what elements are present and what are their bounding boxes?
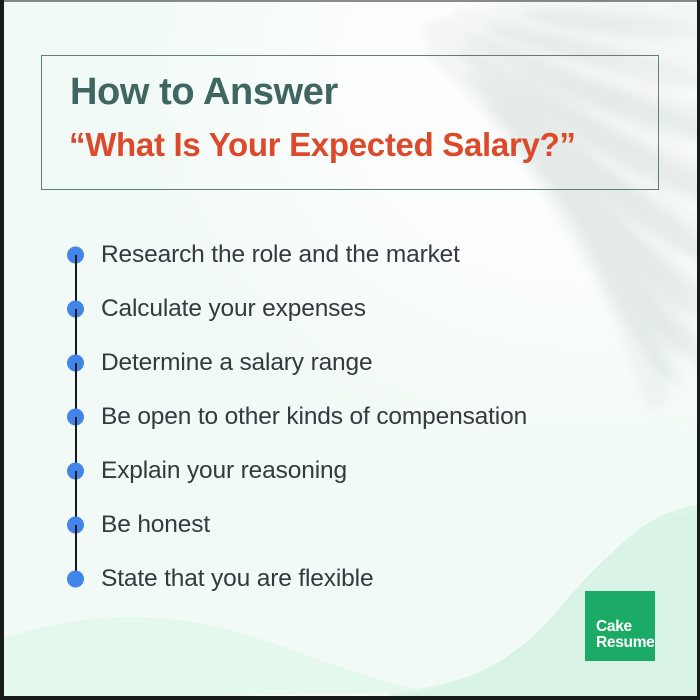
- infographic-canvas: How to Answer “What Is Your Expected Sal…: [0, 0, 700, 700]
- step-marker: [63, 336, 95, 390]
- list-item: Explain your reasoning: [63, 444, 663, 498]
- cakeresume-logo: Cake Resume: [585, 591, 655, 661]
- step-marker: [63, 282, 95, 336]
- page-subtitle: “What Is Your Expected Salary?”: [69, 128, 576, 163]
- step-label: Be honest: [101, 512, 210, 539]
- step-label: Determine a salary range: [101, 350, 372, 377]
- step-label: Explain your reasoning: [101, 458, 347, 485]
- logo-line-2: Resume: [596, 635, 655, 652]
- step-label: Calculate your expenses: [101, 296, 366, 323]
- logo-line-1: Cake: [596, 619, 632, 636]
- step-label: Research the role and the market: [101, 242, 460, 269]
- title-box: How to Answer “What Is Your Expected Sal…: [41, 55, 659, 190]
- bullet-dot-icon: [67, 571, 84, 588]
- list-item: Research the role and the market: [63, 228, 663, 282]
- list-item: Be honest: [63, 498, 663, 552]
- steps-list: Research the role and the market Calcula…: [63, 228, 663, 606]
- step-marker: [63, 552, 95, 606]
- step-label: Be open to other kinds of compensation: [101, 404, 527, 431]
- list-item: Calculate your expenses: [63, 282, 663, 336]
- step-marker: [63, 228, 95, 282]
- list-item: State that you are flexible: [63, 552, 663, 606]
- step-label: State that you are flexible: [101, 566, 373, 593]
- page-title: How to Answer: [70, 73, 338, 113]
- step-marker: [63, 498, 95, 552]
- list-item: Determine a salary range: [63, 336, 663, 390]
- step-marker: [63, 444, 95, 498]
- list-item: Be open to other kinds of compensation: [63, 390, 663, 444]
- step-marker: [63, 390, 95, 444]
